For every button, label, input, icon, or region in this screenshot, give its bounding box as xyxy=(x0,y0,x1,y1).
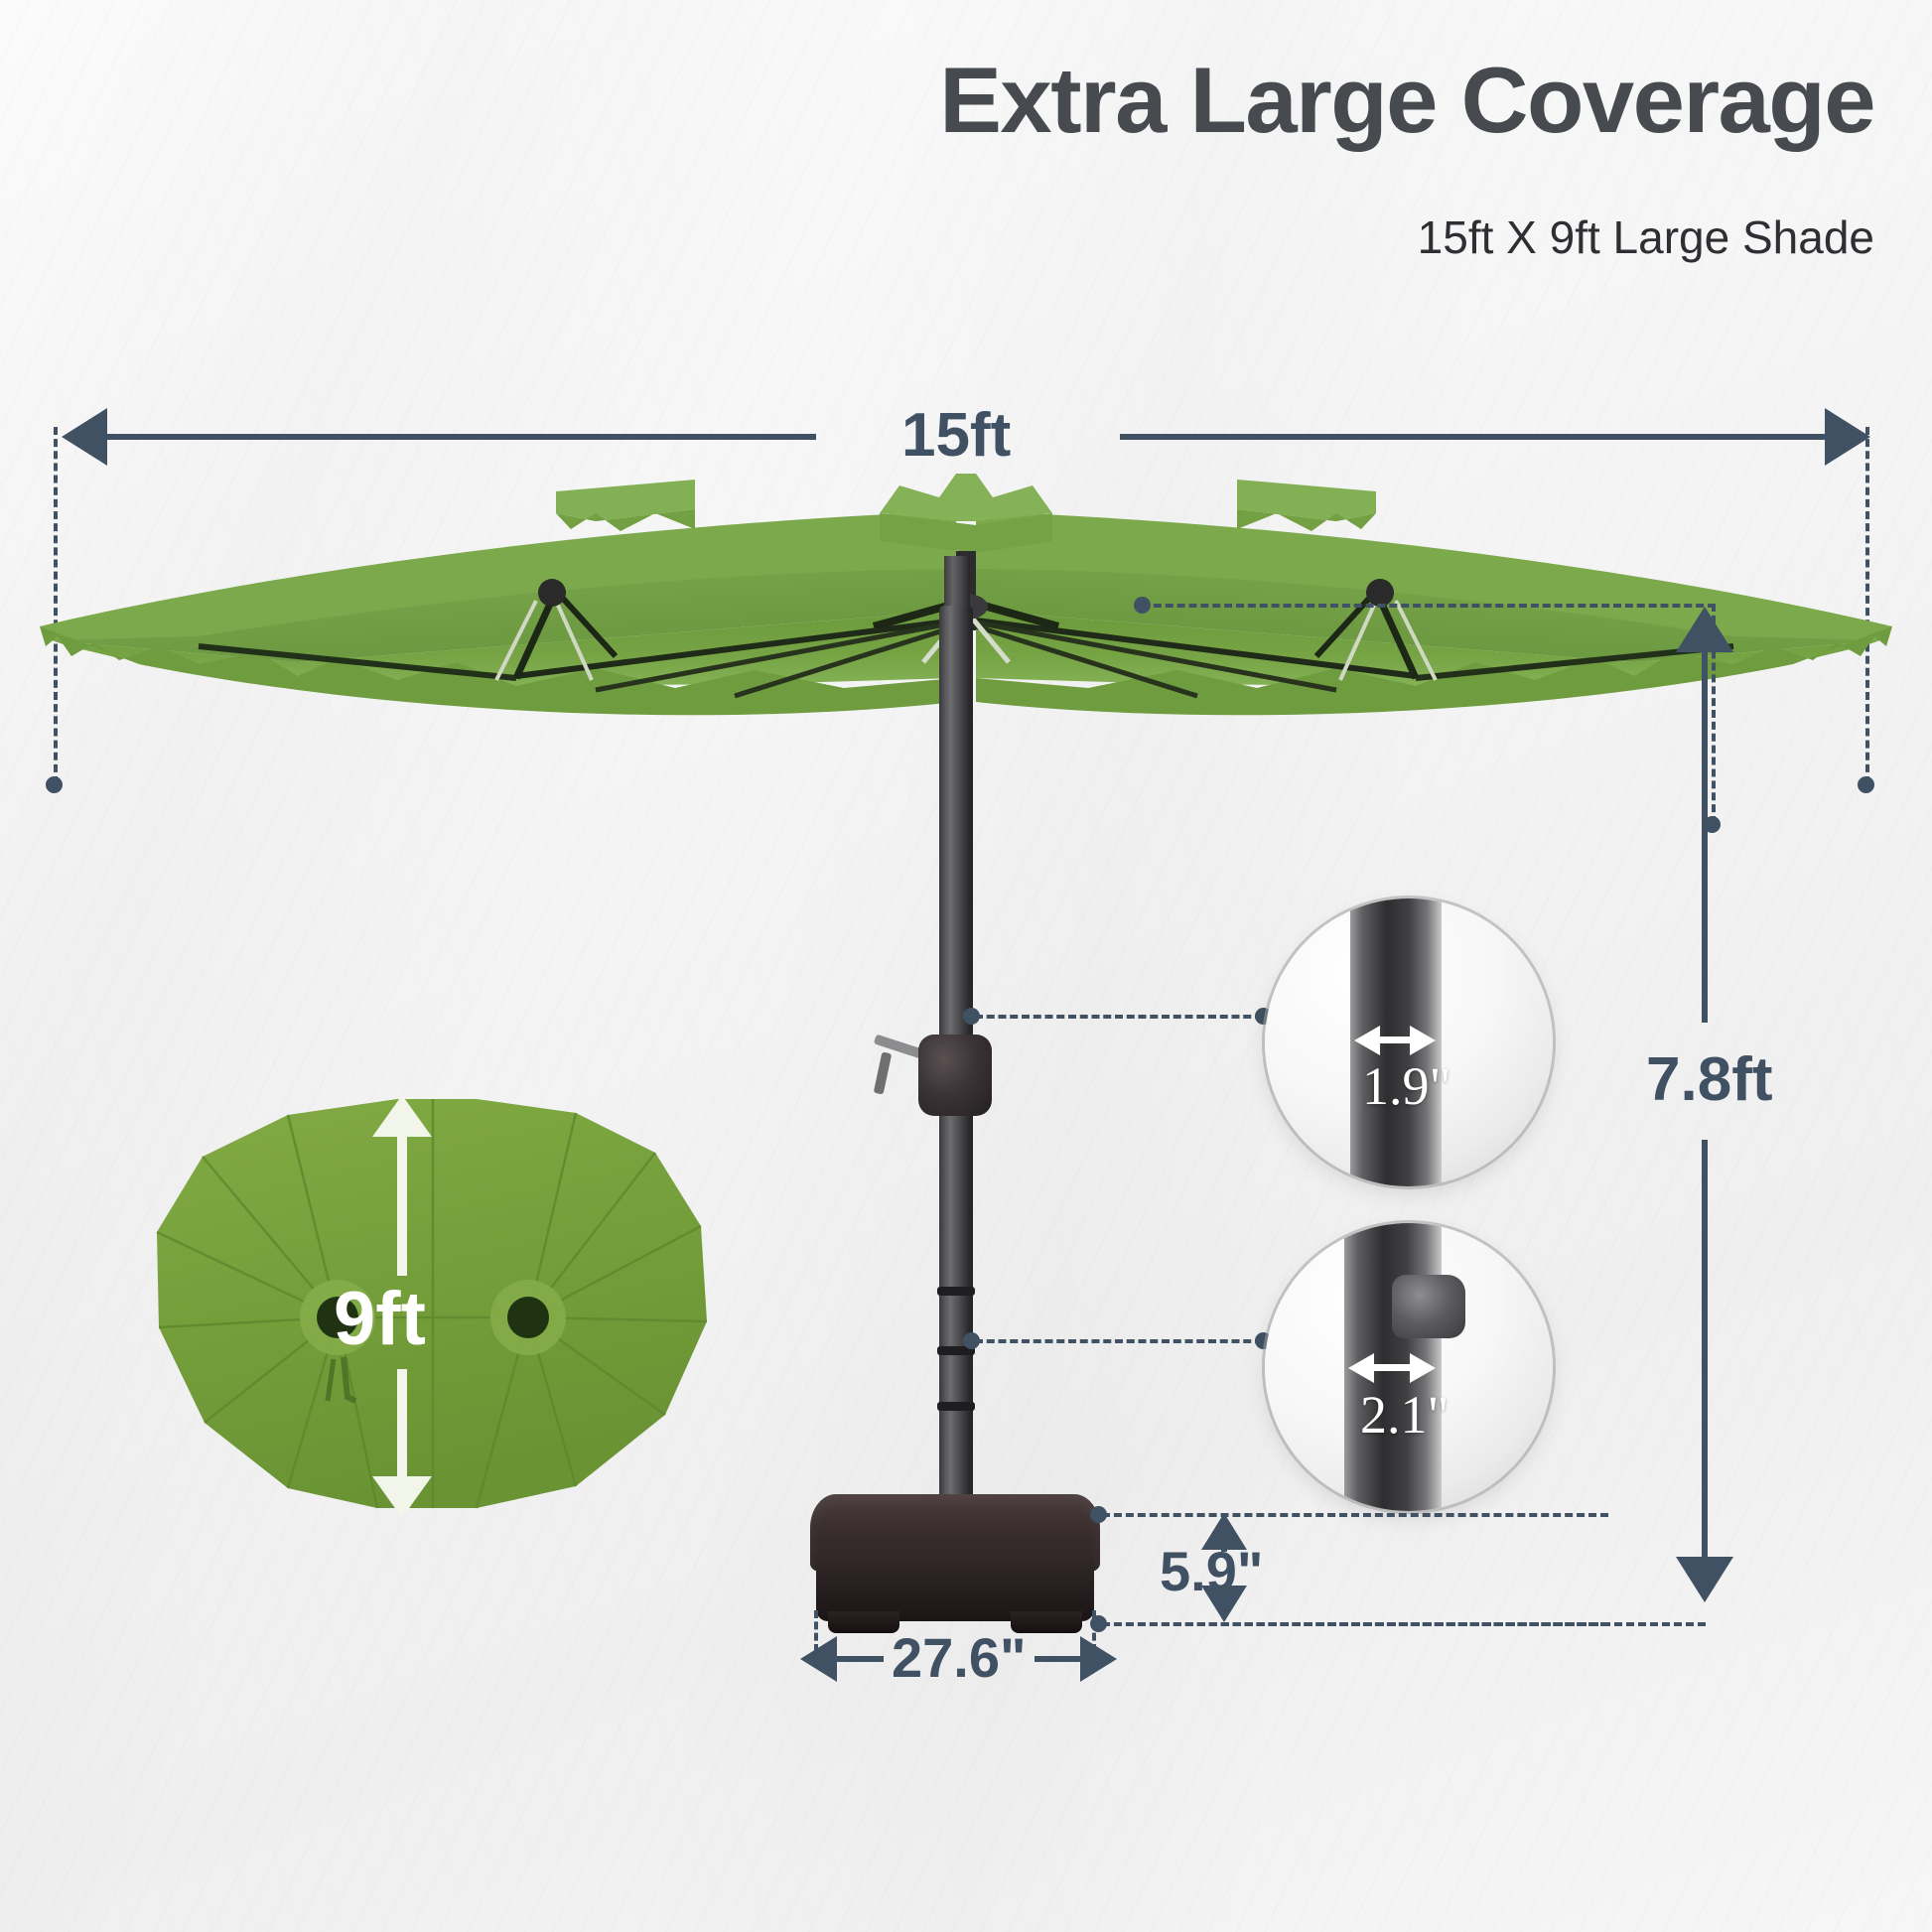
base-height-line-top xyxy=(1102,1513,1608,1517)
base-height-arrowhead-down xyxy=(1201,1586,1247,1622)
height-dimension-label: 7.8ft xyxy=(1646,1044,1772,1115)
height-leader-bottom xyxy=(1102,1622,1706,1626)
height-arrowhead-up xyxy=(1676,607,1733,652)
magnifier-pole-upper: 1.9" xyxy=(1265,898,1553,1186)
magnifier-pole-lower: 2.1" xyxy=(1265,1223,1553,1511)
base-width-line-left xyxy=(836,1656,884,1662)
depth-arrowhead-down xyxy=(372,1476,432,1518)
height-dot-canopy-left xyxy=(1134,597,1151,614)
topdown-canopy-svg xyxy=(149,1087,715,1524)
depth-dimension-label: 9ft xyxy=(334,1276,426,1362)
height-line-upper xyxy=(1702,650,1708,1023)
lens1-arrowhead-right xyxy=(1410,1026,1436,1055)
base-width-label: 27.6" xyxy=(892,1625,1027,1690)
depth-line-upper xyxy=(397,1129,407,1276)
pole-joint-lower xyxy=(937,1402,975,1411)
height-leader-top xyxy=(1142,604,1716,608)
page-subtitle: 15ft X 9ft Large Shade xyxy=(1418,210,1874,264)
height-arrowhead-down xyxy=(1676,1557,1733,1602)
leader1-line xyxy=(975,1015,1263,1019)
base-width-arrowhead-left xyxy=(800,1636,837,1682)
width-line-left xyxy=(105,434,816,440)
umbrella-top-view: 9ft xyxy=(149,1087,715,1524)
page-title: Extra Large Coverage xyxy=(939,52,1874,150)
width-line-right xyxy=(1120,434,1827,440)
pole-joint-upper xyxy=(937,1287,975,1296)
pole-lower-diameter-label: 2.1" xyxy=(1360,1384,1449,1446)
depth-line-lower xyxy=(397,1369,407,1480)
crank-mechanism xyxy=(918,1035,992,1116)
base-foot-left xyxy=(828,1611,899,1633)
base-width-arrowhead-right xyxy=(1080,1636,1117,1682)
base-width-line-right xyxy=(1035,1656,1082,1662)
leader2-line xyxy=(975,1339,1263,1343)
lens2-crank-knob xyxy=(1392,1275,1465,1338)
umbrella-base xyxy=(806,1494,1104,1638)
height-line-lower xyxy=(1702,1140,1708,1557)
lens2-arrowhead-right xyxy=(1410,1353,1436,1383)
pole-upper-diameter-label: 1.9" xyxy=(1362,1055,1451,1117)
infographic-canvas: Extra Large Coverage 15ft X 9ft Large Sh… xyxy=(0,0,1932,1932)
